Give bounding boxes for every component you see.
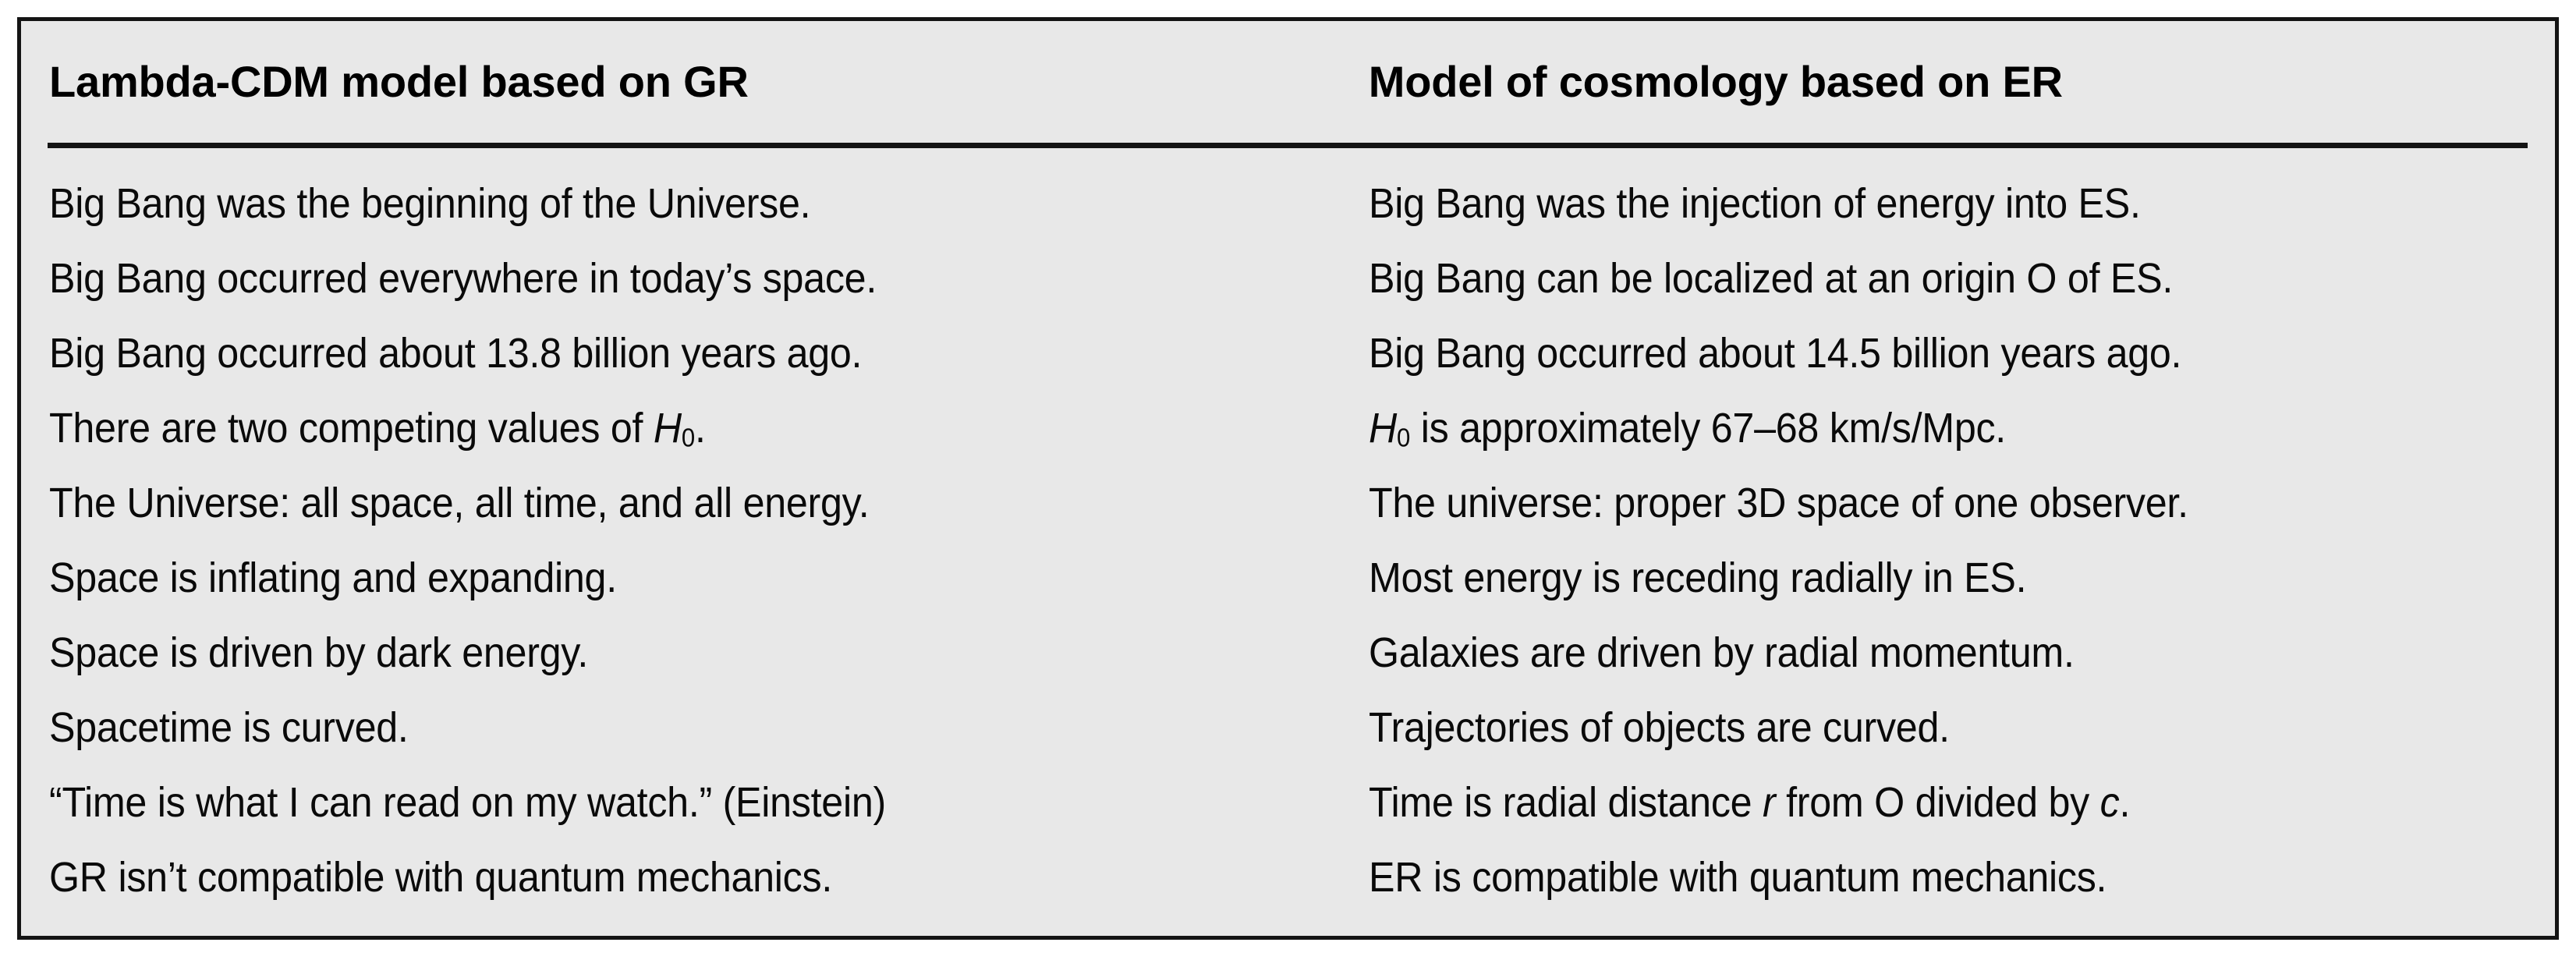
table-row: “Time is what I can read on my watch.” (… bbox=[49, 765, 1253, 840]
table-row: Most energy is receding radially in ES. bbox=[1369, 540, 2472, 615]
table-row: Galaxies are driven by radial momentum. bbox=[1369, 615, 2472, 690]
table-body: Big Bang was the beginning of the Univer… bbox=[21, 166, 2555, 915]
table-row: Space is driven by dark energy. bbox=[49, 615, 1253, 690]
table-row: Big Bang occurred about 13.8 billion yea… bbox=[49, 316, 1253, 391]
table-row: Big Bang can be localized at an origin O… bbox=[1369, 241, 2472, 316]
table-header-row: Lambda-CDM model based on GR Model of co… bbox=[21, 21, 2555, 143]
table-row: Time is radial distance r from O divided… bbox=[1369, 765, 2472, 840]
column-body-lambda-cdm: Big Bang was the beginning of the Univer… bbox=[21, 166, 1343, 915]
column-header-er-cosmology: Model of cosmology based on ER bbox=[1343, 60, 2555, 104]
column-body-er-cosmology: Big Bang was the injection of energy int… bbox=[1343, 166, 2555, 915]
table-row: H0 is approximately 67–68 km/s/Mpc. bbox=[1369, 391, 2472, 466]
table-row: Big Bang occurred about 14.5 billion yea… bbox=[1369, 316, 2472, 391]
column-header-lambda-cdm: Lambda-CDM model based on GR bbox=[21, 60, 1343, 104]
table-row: Trajectories of objects are curved. bbox=[1369, 690, 2472, 765]
table-row: Big Bang was the beginning of the Univer… bbox=[49, 166, 1253, 241]
comparison-table: Lambda-CDM model based on GR Model of co… bbox=[17, 17, 2559, 940]
table-row: The universe: proper 3D space of one obs… bbox=[1369, 466, 2472, 540]
table-row: GR isn’t compatible with quantum mechani… bbox=[49, 840, 1253, 915]
table-row: Space is inflating and expanding. bbox=[49, 540, 1253, 615]
table-row: Spacetime is curved. bbox=[49, 690, 1253, 765]
table-row: Big Bang was the injection of energy int… bbox=[1369, 166, 2472, 241]
table-row: ER is compatible with quantum mechanics. bbox=[1369, 840, 2472, 915]
table-row: Big Bang occurred everywhere in today’s … bbox=[49, 241, 1253, 316]
header-divider-rule bbox=[48, 143, 2528, 148]
table-row: The Universe: all space, all time, and a… bbox=[49, 466, 1253, 540]
table-row: There are two competing values of H0. bbox=[49, 391, 1253, 466]
